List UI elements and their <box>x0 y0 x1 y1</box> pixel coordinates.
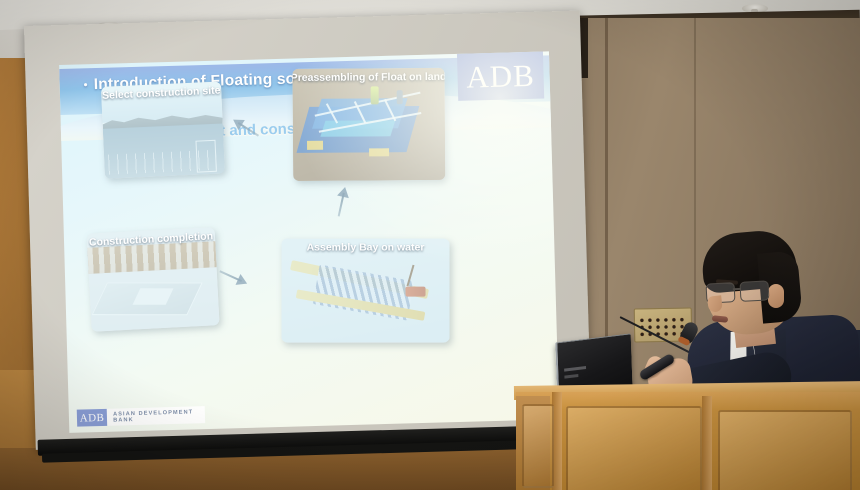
adb-logo: ADB <box>457 52 544 101</box>
process-panel-assembly-bay: Assembly Bay on water <box>282 239 450 343</box>
footer-adb-mark: ADB <box>77 409 108 427</box>
panel2-yellow-marker <box>307 141 323 150</box>
podium-panel-molding <box>522 404 554 488</box>
panel2-worker <box>397 90 403 104</box>
panel2-worker <box>371 86 379 104</box>
panel1-marker <box>195 140 216 173</box>
process-panel-preassembly: Preassembling of Float on land <box>292 68 445 181</box>
adb-logo-text: ADB <box>466 60 535 93</box>
slide-footer: ADB ASIAN DEVELOPMENT BANK <box>77 406 205 427</box>
podium-panel-molding <box>718 410 852 490</box>
title-bullet-icon: • <box>84 79 88 91</box>
footer-adb-text: ASIAN DEVELOPMENT BANK <box>107 409 205 424</box>
conference-room-photo: •Introduction of Floating solar power AD… <box>0 0 860 490</box>
presentation-slide: •Introduction of Floating solar power AD… <box>59 51 559 433</box>
panel4-boat <box>406 287 426 297</box>
projection-screen: •Introduction of Floating solar power AD… <box>24 10 592 461</box>
laptop-lid-marking <box>564 366 586 372</box>
process-panel-completion: Construction completion <box>87 227 220 332</box>
panel4-caption: Assembly Bay on water <box>282 239 450 256</box>
panel2-yellow-marker <box>369 148 389 156</box>
presenter-ear <box>768 284 784 308</box>
laptop-lid-marking <box>564 374 578 379</box>
process-panel-select-site: Select construction site <box>101 81 225 178</box>
podium-panel-molding <box>566 406 702 490</box>
right-wall-seam <box>694 18 696 348</box>
panel2-caption: Preassembling of Float on land <box>292 68 444 86</box>
wall-panel-label <box>640 310 641 314</box>
podium-corner-bevel <box>702 396 712 490</box>
